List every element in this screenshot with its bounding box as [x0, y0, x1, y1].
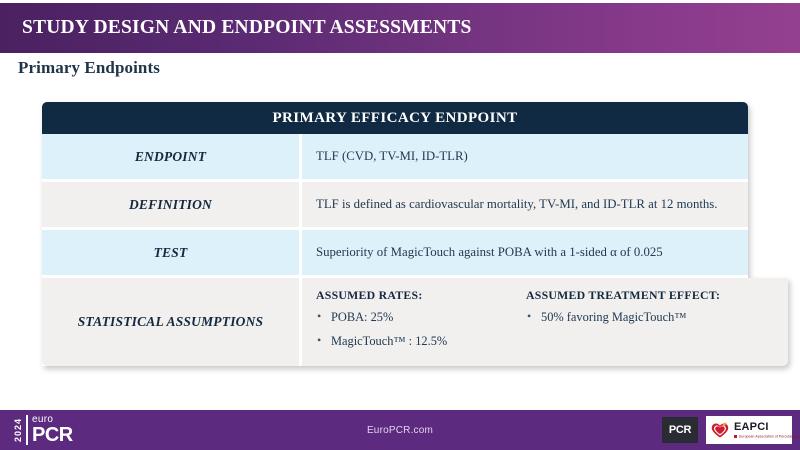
section-subtitle: Primary Endpoints — [18, 58, 160, 78]
row-label-cell: STATISTICAL ASSUMPTIONS — [42, 278, 299, 366]
eapci-logo-badge: EAPCI European Association of Percutaneo… — [706, 416, 792, 444]
table-header-label: PRIMARY EFFICACY ENDPOINT — [272, 110, 517, 127]
pcr-logo-text: PCR — [669, 424, 691, 436]
europcr-logo: 2024 euro PCR — [14, 414, 73, 446]
assumed-treatment-effect-column: ASSUMED TREATMENT EFFECT: 50% favoring M… — [526, 288, 786, 334]
logo-year: 2024 — [14, 415, 23, 445]
row-value: TLF (CVD, TV-MI, ID-TLR) — [316, 148, 468, 165]
row-label: STATISTICAL ASSUMPTIONS — [78, 314, 264, 330]
row-value: TLF is defined as cardiovascular mortali… — [316, 196, 717, 213]
eapci-text-block: EAPCI European Association of Percutaneo… — [734, 422, 800, 439]
assumed-rates-title: ASSUMED RATES: — [316, 288, 526, 303]
row-value-cell: Superiority of MagicTouch against POBA w… — [299, 230, 748, 275]
row-label-cell: ENDPOINT — [42, 134, 299, 179]
table-header: PRIMARY EFFICACY ENDPOINT — [42, 102, 748, 134]
list-item: 50% favoring MagicTouch™ — [526, 310, 786, 325]
list-item: POBA: 25% — [316, 310, 526, 325]
heart-icon — [710, 420, 730, 440]
logo-pcr-text: PCR — [32, 426, 73, 445]
table-row: TEST Superiority of MagicTouch against P… — [42, 230, 748, 278]
pcr-logo-badge: PCR — [662, 417, 698, 443]
row-label: TEST — [154, 245, 188, 261]
row-label-cell: TEST — [42, 230, 299, 275]
table-row: STATISTICAL ASSUMPTIONS ASSUMED RATES: P… — [42, 278, 748, 366]
row-label: ENDPOINT — [135, 149, 206, 165]
assumed-rates-column: ASSUMED RATES: POBA: 25% MagicTouch™ : 1… — [316, 288, 526, 358]
row-label-cell: DEFINITION — [42, 182, 299, 227]
page-title: STUDY DESIGN AND ENDPOINT ASSESSMENTS — [0, 17, 472, 39]
assumptions-block: ASSUMED RATES: POBA: 25% MagicTouch™ : 1… — [316, 286, 786, 358]
eapci-subtitle: European Association of Percutaneous Car… — [734, 435, 800, 439]
table-row: DEFINITION TLF is defined as cardiovascu… — [42, 182, 748, 230]
slide-header-bar: STUDY DESIGN AND ENDPOINT ASSESSMENTS — [0, 3, 800, 53]
list-item: MagicTouch™ : 12.5% — [316, 334, 526, 349]
table-row: ENDPOINT TLF (CVD, TV-MI, ID-TLR) — [42, 134, 748, 182]
row-value: Superiority of MagicTouch against POBA w… — [316, 244, 663, 261]
assumed-rates-list: POBA: 25% MagicTouch™ : 12.5% — [316, 310, 526, 349]
primary-efficacy-endpoint-table: PRIMARY EFFICACY ENDPOINT ENDPOINT TLF (… — [42, 102, 748, 366]
row-value-cell: TLF (CVD, TV-MI, ID-TLR) — [299, 134, 748, 179]
footer-logos: PCR EAPCI European Association of Percut… — [662, 414, 792, 446]
assumed-treatment-effect-list: 50% favoring MagicTouch™ — [526, 310, 786, 325]
eapci-name: EAPCI — [734, 422, 800, 433]
row-value-cell: ASSUMED RATES: POBA: 25% MagicTouch™ : 1… — [299, 278, 788, 366]
logo-divider — [26, 415, 28, 445]
logo-wordmark: euro PCR — [32, 415, 73, 445]
row-label: DEFINITION — [129, 197, 212, 213]
row-value-cell: TLF is defined as cardiovascular mortali… — [299, 182, 748, 227]
assumed-treatment-effect-title: ASSUMED TREATMENT EFFECT: — [526, 288, 786, 303]
